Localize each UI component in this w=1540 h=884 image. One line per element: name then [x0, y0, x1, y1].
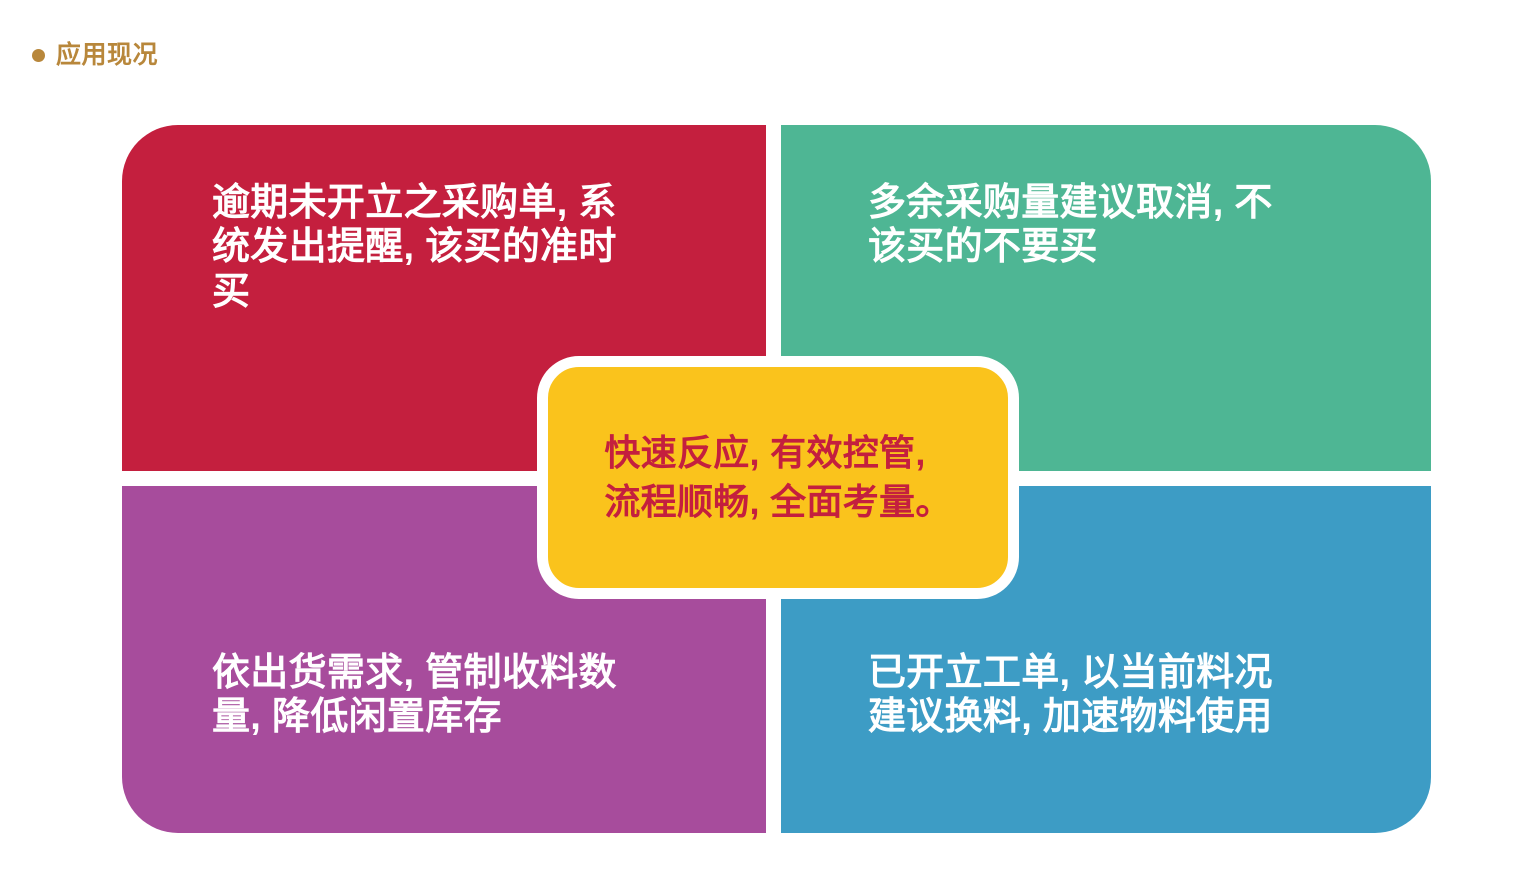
summary-callout-text: 快速反应, 有效控管, 流程顺畅, 全面考量。	[594, 429, 961, 526]
summary-callout-badge[interactable]: 快速反应, 有效控管, 流程顺畅, 全面考量。	[537, 356, 1019, 599]
filled-circle-bullet-icon	[32, 49, 45, 62]
slide-header: 应用现况	[32, 38, 158, 72]
quadrant-top-right-text: 多余采购量建议取消, 不 该买的不要买	[868, 181, 1378, 270]
page-title: 应用现况	[56, 43, 158, 68]
quadrant-bottom-left-text: 依出货需求, 管制收料数 量, 降低闲置库存	[212, 651, 712, 740]
quadrant-bottom-right-text: 已开立工单, 以当前料况 建议换料, 加速物料使用	[868, 651, 1378, 740]
quadrant-top-left-text: 逾期未开立之采购单, 系 统发出提醒, 该买的准时 买	[212, 181, 712, 314]
